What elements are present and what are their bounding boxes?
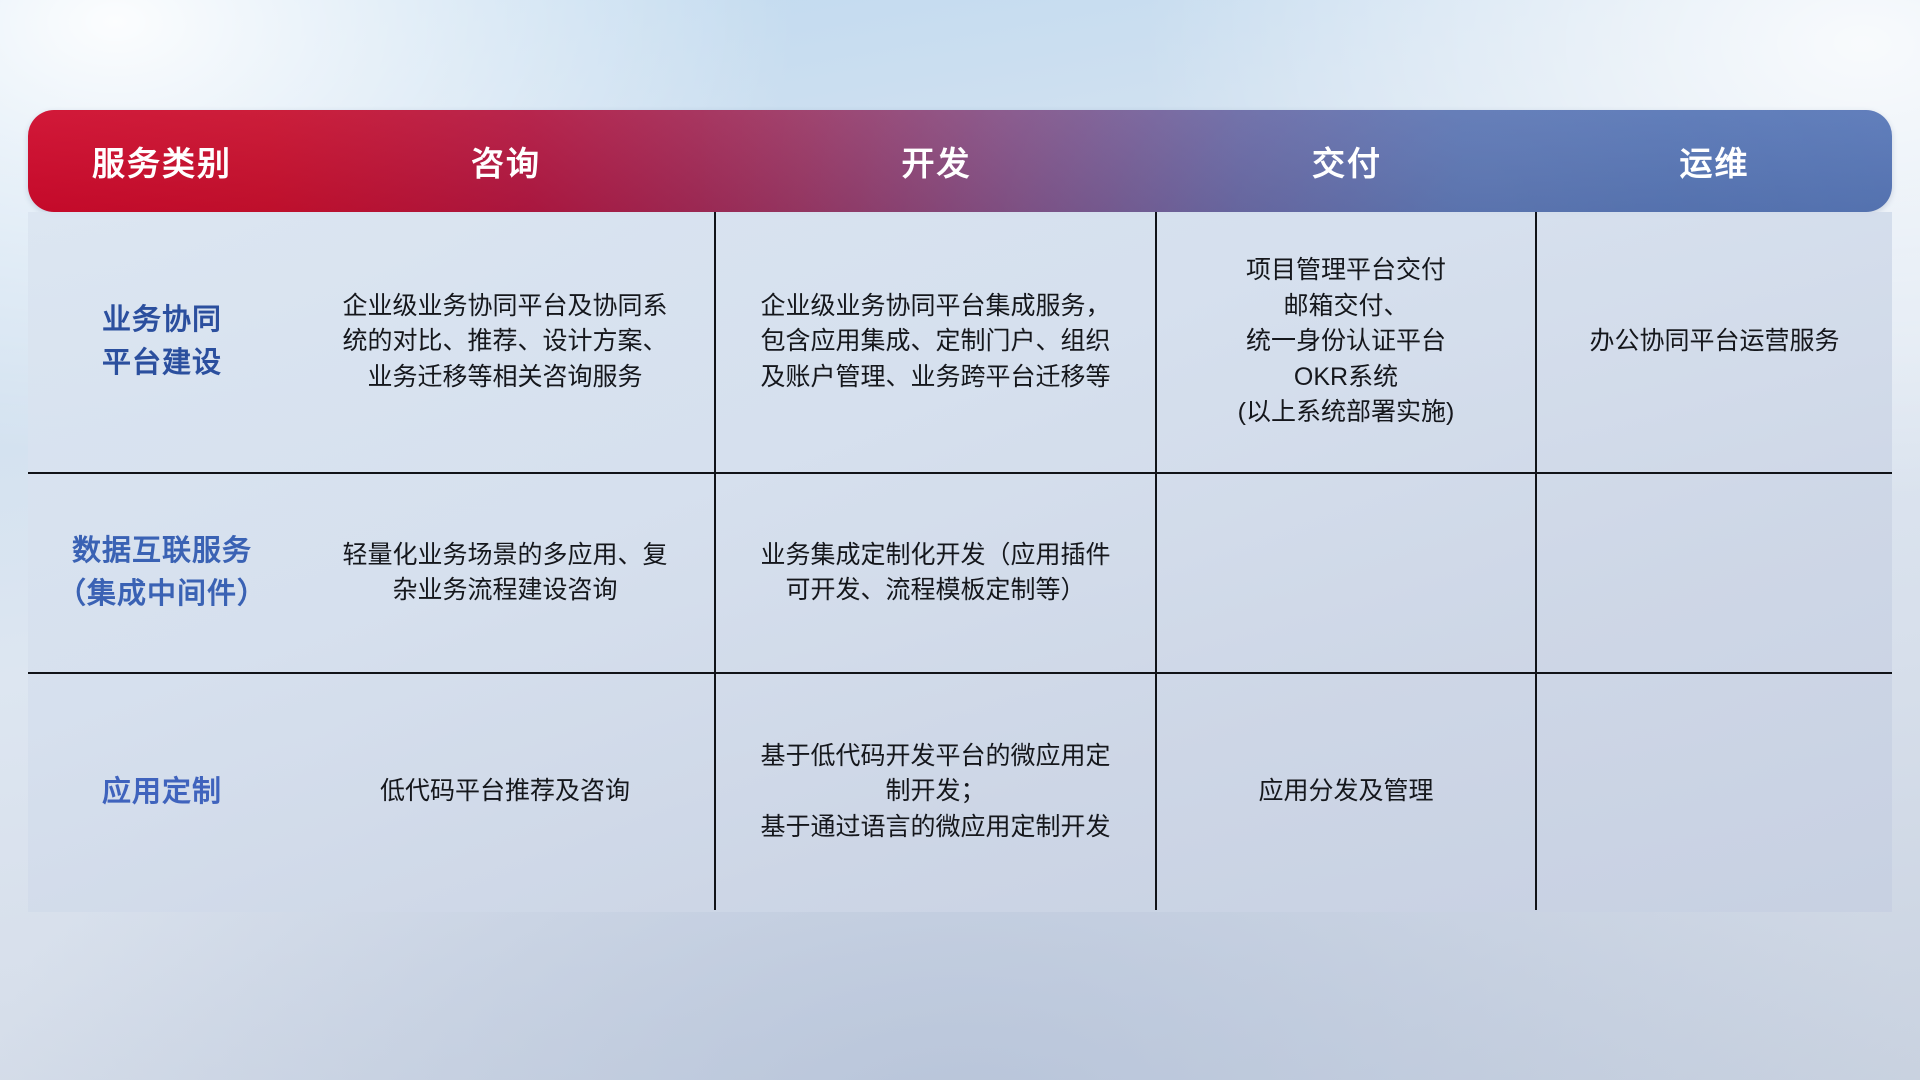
row-label-cell: 数据互联服务 （集成中间件） <box>28 474 296 672</box>
cell-consulting: 企业级业务协同平台及协同系 统的对比、推荐、设计方案、 业务迁移等相关咨询服务 <box>296 212 716 472</box>
row-label-text: 数据互联服务 （集成中间件） <box>57 530 267 616</box>
table-body: 业务协同 平台建设 企业级业务协同平台及协同系 统的对比、推荐、设计方案、 业务… <box>28 212 1892 912</box>
cell-delivery: 应用分发及管理 <box>1157 674 1537 910</box>
column-header-category: 服务类别 <box>28 137 296 185</box>
service-matrix-table: 服务类别 咨询 开发 交付 运维 业务协同 平台建设 企业级业务协同平台及协同系… <box>28 110 1892 910</box>
row-label-cell: 业务协同 平台建设 <box>28 212 296 472</box>
column-header-development: 开发 <box>716 137 1157 185</box>
cell-consulting: 轻量化业务场景的多应用、复 杂业务流程建设咨询 <box>296 474 716 672</box>
cell-delivery: 项目管理平台交付 邮箱交付、 统一身份认证平台 OKR系统 (以上系统部署实施) <box>1157 212 1537 472</box>
table-row: 业务协同 平台建设 企业级业务协同平台及协同系 统的对比、推荐、设计方案、 业务… <box>28 212 1892 474</box>
cell-development: 企业级业务协同平台集成服务， 包含应用集成、定制门户、组织 及账户管理、业务跨平… <box>716 212 1157 472</box>
slide-canvas: 服务类别 咨询 开发 交付 运维 业务协同 平台建设 企业级业务协同平台及协同系… <box>0 0 1920 1080</box>
column-header-consulting: 咨询 <box>296 137 716 185</box>
cell-delivery <box>1157 474 1537 672</box>
column-header-delivery: 交付 <box>1157 137 1537 185</box>
cell-operations <box>1537 474 1892 672</box>
row-label-text: 应用定制 <box>102 771 222 814</box>
row-label-text: 业务协同 平台建设 <box>102 299 222 385</box>
table-row: 数据互联服务 （集成中间件） 轻量化业务场景的多应用、复 杂业务流程建设咨询 业… <box>28 474 1892 674</box>
column-header-operations: 运维 <box>1537 137 1892 185</box>
cell-operations <box>1537 674 1892 910</box>
cell-consulting: 低代码平台推荐及咨询 <box>296 674 716 910</box>
cell-operations: 办公协同平台运营服务 <box>1537 212 1892 472</box>
row-label-cell: 应用定制 <box>28 674 296 910</box>
cell-development: 基于低代码开发平台的微应用定 制开发； 基于通过语言的微应用定制开发 <box>716 674 1157 910</box>
table-row: 应用定制 低代码平台推荐及咨询 基于低代码开发平台的微应用定 制开发； 基于通过… <box>28 674 1892 910</box>
table-header-row: 服务类别 咨询 开发 交付 运维 <box>28 110 1892 212</box>
cell-development: 业务集成定制化开发（应用插件 可开发、流程模板定制等） <box>716 474 1157 672</box>
